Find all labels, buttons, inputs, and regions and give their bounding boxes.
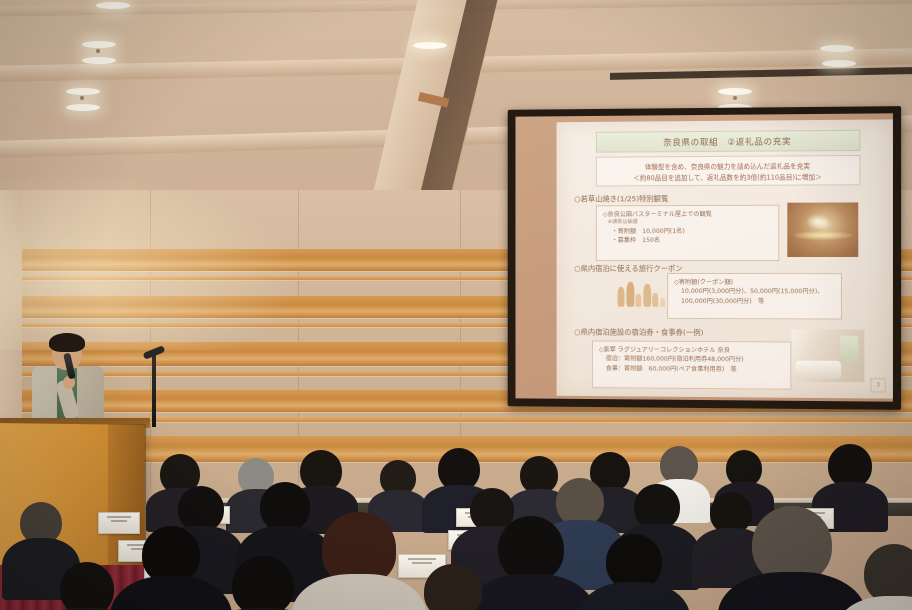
mountain-ridge-fire: [793, 231, 853, 240]
presentation-slide: 奈良県の取組 ②返礼品の充実 体験型を含め、奈良県の魅力を詰め込んだ返礼品を充実…: [557, 119, 893, 398]
fire-glow: [806, 213, 830, 229]
section-1-line-3: ・募集枠 150名: [612, 236, 773, 245]
ceiling-downlight: [66, 104, 100, 111]
ceiling-downlight: [82, 41, 116, 48]
wall-light-glow: [0, 170, 300, 350]
wakakusayama-fire-photo: [787, 202, 858, 257]
section-3-line-3: 食事：寄附額 60,000円(ペア食事利用券) 等: [606, 364, 785, 375]
head: [498, 516, 564, 582]
screen-surface: 奈良県の取組 ②返礼品の充実 体験型を含め、奈良県の魅力を詰め込んだ返礼品を充実…: [515, 113, 892, 401]
slide-section-heading-3: ○県内宿泊施設の宿泊券・食事券(一例): [574, 326, 703, 338]
section-1-line-1: ◇奈良公園バスターミナル屋上での観覧: [603, 210, 772, 220]
slide-lead-line-1: 体験型を含め、奈良県の魅力を詰め込んだ返礼品を充実: [645, 160, 810, 171]
head: [260, 482, 310, 532]
ceiling-downlight: [413, 42, 447, 49]
slide-section-box-2: ◇寄附額(クーポン額) 10,000円(3,000円分)、50,000円(15,…: [667, 273, 842, 320]
clipart-figure: [626, 282, 634, 307]
downlight-fixture: [80, 96, 84, 100]
downlight-fixture: [96, 49, 100, 53]
projection-screen: 奈良県の取組 ②返礼品の充実 体験型を含め、奈良県の魅力を詰め込んだ返礼品を充実…: [508, 106, 901, 410]
head: [556, 478, 604, 526]
slide-lead-line-2: ＜約80品目を追加して、返礼品数を約3倍(約110品目)に増加＞: [633, 171, 821, 182]
conference-photo: 奈良県の取組 ②返礼品の充実 体験型を含め、奈良県の魅力を詰め込んだ返礼品を充実…: [0, 0, 912, 610]
clipart-figure: [618, 287, 625, 307]
ceiling-downlight: [822, 60, 856, 67]
head: [60, 562, 114, 610]
slide-page-number-box: 3: [870, 378, 885, 392]
ceiling-downlight: [820, 45, 854, 52]
slide-section-box-3: ◇紫翠 ラグジュアリーコレクションホテル 奈良 宿泊：寄附額160,000円(宿…: [592, 340, 791, 389]
slide-section-heading-1: ○若草山焼き(1/25)特別観覧: [574, 193, 668, 204]
slide-page-number: 3: [876, 382, 880, 388]
ceiling-downlight: [66, 88, 100, 95]
clipart-figure: [660, 298, 665, 307]
ceiling-downlight: [718, 88, 752, 95]
clipart-figure: [643, 284, 651, 307]
section-2-line-2: 10,000円(3,000円分)、50,000円(15,000円分)、: [681, 287, 835, 297]
slide-title-bar: 奈良県の取組 ②返礼品の充実: [596, 130, 860, 153]
hotel-window: [839, 336, 858, 363]
section-2-line-3: 100,000円(30,000円分) 等: [681, 297, 835, 307]
slide-lead-box: 体験型を含め、奈良県の魅力を詰め込んだ返礼品を充実 ＜約80品目を追加して、返礼…: [596, 155, 860, 186]
clipart-figure: [652, 293, 658, 307]
ceiling-downlight: [82, 57, 116, 64]
downlight-fixture: [733, 96, 737, 100]
section-2-line-1: ◇寄附額(クーポン額): [674, 278, 835, 288]
clipart-figure: [635, 294, 641, 307]
microphone-stand: [152, 355, 156, 427]
family-clipart: [618, 277, 665, 307]
head: [864, 544, 912, 604]
hotel-bed: [796, 361, 841, 379]
section-1-line-2: ・寄附額 10,000円(1名): [612, 227, 773, 237]
ceiling-downlight: [96, 2, 130, 9]
audience: [0, 430, 912, 610]
slide-title: 奈良県の取組 ②返礼品の充実: [663, 135, 791, 148]
slide-section-box-1: ◇奈良公園バスターミナル屋上での観覧 ※通常は抽選 ・寄附額 10,000円(1…: [596, 205, 779, 261]
head: [232, 556, 294, 610]
hotel-room-photo: [791, 329, 864, 382]
name-placard: [98, 512, 140, 534]
